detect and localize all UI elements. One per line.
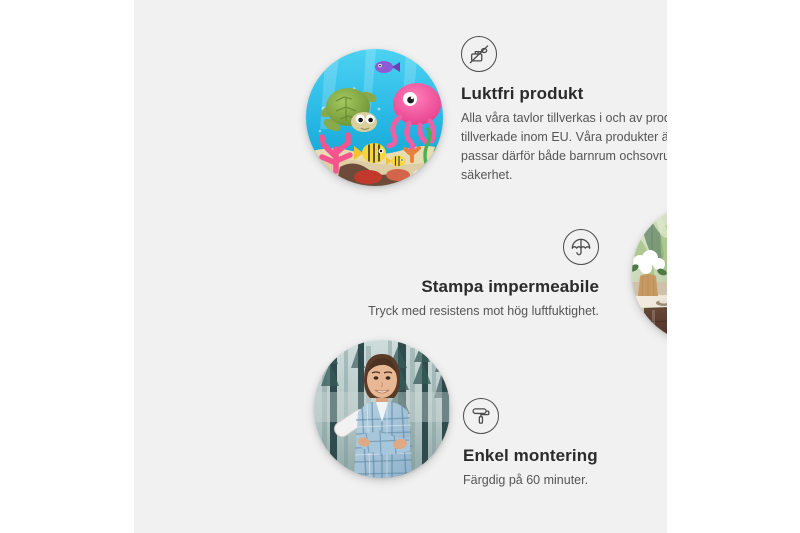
feature-description: Färgdig på 60 minuter. <box>463 471 667 490</box>
umbrella-icon <box>563 229 599 265</box>
image-ocean-underwater <box>306 49 443 186</box>
feature-title: Enkel montering <box>463 445 667 466</box>
feature-easy-mounting: Enkel montering Färgdig på 60 minuter. <box>463 398 667 490</box>
feature-waterproof: Stampa impermeabile Tryck med resistens … <box>349 229 599 321</box>
paint-roller-icon <box>463 398 499 434</box>
feature-description: Tryck med resistens mot hög luftfuktighe… <box>349 302 599 321</box>
icon-row <box>349 229 599 276</box>
feature-title: Luktfri produkt <box>461 83 667 104</box>
page-root: Luktfri produkt Alla våra tavlor tillver… <box>0 0 800 533</box>
content-panel: Luktfri produkt Alla våra tavlor tillver… <box>134 0 667 533</box>
feature-odorless: Luktfri produkt Alla våra tavlor tillver… <box>461 36 667 185</box>
image-bathroom-wallpaper <box>632 204 667 343</box>
feature-title: Stampa impermeabile <box>349 276 599 297</box>
image-painter-forest <box>314 340 450 478</box>
feature-description: Alla våra tavlor tillverkas i och av pro… <box>461 109 667 185</box>
no-fragrance-icon <box>461 36 497 72</box>
